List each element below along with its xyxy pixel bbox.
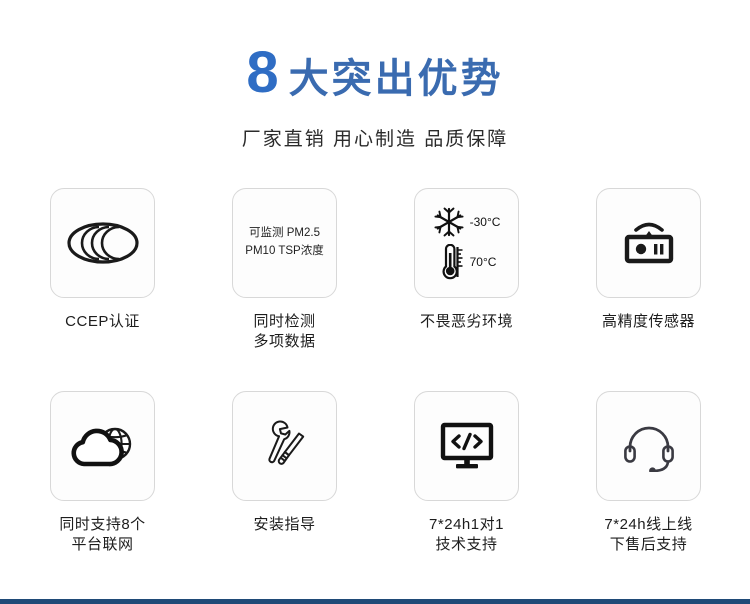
feature-item-installation-guide: 安装指导 [232, 391, 337, 556]
feature-caption: CCEP认证 [23, 312, 183, 332]
snowflake-icon [433, 206, 465, 238]
feature-grid: CCEP认证 可监测 PM2.5 PM10 TSP浓度 同时检测 多项数据 [0, 188, 750, 555]
title-number: 8 [246, 44, 278, 102]
sensor-device-icon [618, 217, 680, 269]
feature-row-2: 同时支持8个 平台联网 安装指导 [0, 391, 750, 556]
card-inner-text: 可监测 PM2.5 PM10 TSP浓度 [233, 225, 336, 261]
temperature-group: -30°C [433, 206, 501, 280]
feature-item-platform-connection: 同时支持8个 平台联网 [50, 391, 155, 556]
feature-caption: 不畏恶劣环境 [387, 312, 547, 332]
feature-card: -30°C [414, 188, 519, 298]
thermometer-icon [433, 244, 465, 280]
feature-card [50, 391, 155, 501]
feature-card [596, 391, 701, 501]
feature-caption: 7*24h1对1 技术支持 [387, 515, 547, 556]
feature-item-high-precision-sensor: 高精度传感器 [596, 188, 701, 353]
feature-caption: 同时支持8个 平台联网 [23, 515, 183, 556]
cloud-globe-icon [67, 420, 139, 472]
temperature-high-row: 70°C [433, 244, 497, 280]
feature-caption: 同时检测 多项数据 [205, 312, 365, 353]
page-header: 8 大突出优势 厂家直销 用心制造 品质保障 [0, 0, 750, 151]
feature-card: 可监测 PM2.5 PM10 TSP浓度 [232, 188, 337, 298]
feature-item-multi-detect: 可监测 PM2.5 PM10 TSP浓度 同时检测 多项数据 [232, 188, 337, 353]
wrench-screwdriver-icon [257, 418, 313, 474]
feature-caption: 高精度传感器 [569, 312, 729, 332]
feature-item-harsh-environment: -30°C [414, 188, 519, 353]
feature-card [596, 188, 701, 298]
feature-card [232, 391, 337, 501]
ccc-certification-icon [65, 217, 141, 269]
headset-icon [619, 420, 679, 472]
feature-caption: 安装指导 [205, 515, 365, 535]
monitor-code-icon [438, 419, 496, 473]
feature-caption: 7*24h线上线 下售后支持 [569, 515, 729, 556]
page-subtitle: 厂家直销 用心制造 品质保障 [0, 124, 750, 151]
temperature-high-label: 70°C [470, 255, 497, 269]
feature-card [414, 391, 519, 501]
temperature-low-label: -30°C [470, 215, 501, 229]
temperature-low-row: -30°C [433, 206, 501, 238]
promo-page: 8 大突出优势 厂家直销 用心制造 品质保障 CCEP认证 [0, 0, 750, 604]
feature-item-ccep: CCEP认证 [50, 188, 155, 353]
feature-item-tech-support: 7*24h1对1 技术支持 [414, 391, 519, 556]
bottom-accent-bar [0, 599, 750, 604]
title-text: 大突出优势 [289, 59, 504, 99]
feature-card [50, 188, 155, 298]
feature-row-1: CCEP认证 可监测 PM2.5 PM10 TSP浓度 同时检测 多项数据 [0, 188, 750, 353]
page-title: 8 大突出优势 [0, 44, 750, 102]
feature-item-after-sales-support: 7*24h线上线 下售后支持 [596, 391, 701, 556]
